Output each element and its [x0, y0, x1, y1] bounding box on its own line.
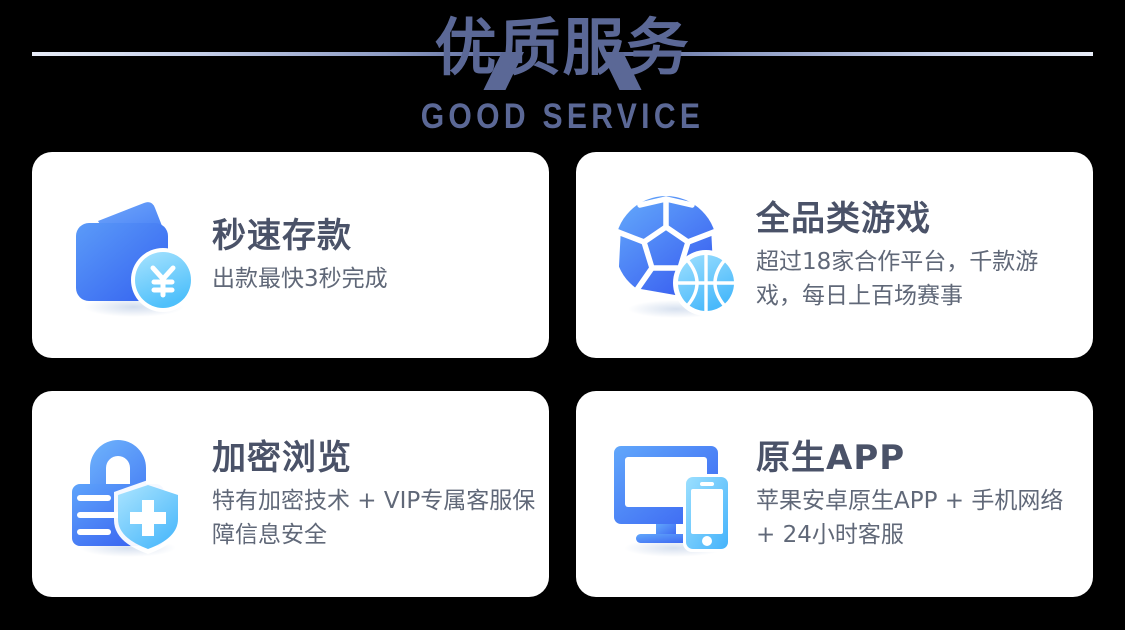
good-service-banner: 优质服务 GOOD SERVICE: [0, 0, 1125, 630]
feature-card-games[interactable]: 全品类游戏 超过18家合作平台，千款游戏，每日上百场赛事: [576, 152, 1093, 358]
banner-header: 优质服务 GOOD SERVICE: [0, 0, 1125, 152]
card-text-block: 全品类游戏 超过18家合作平台，千款游戏，每日上百场赛事: [744, 197, 1093, 313]
soccer-basketball-icon: [604, 185, 744, 325]
card-text-block: 加密浏览 特有加密技术 + VIP专属客服保障信息安全: [200, 436, 549, 552]
card-description: 出款最快3秒完成: [212, 262, 539, 296]
card-title: 秒速存款: [212, 214, 539, 258]
feature-card-native-app[interactable]: 原生APP 苹果安卓原生APP + 手机网络 + 24小时客服: [576, 391, 1093, 597]
card-text-block: 原生APP 苹果安卓原生APP + 手机网络 + 24小时客服: [744, 436, 1093, 552]
card-description: 特有加密技术 + VIP专属客服保障信息安全: [212, 484, 539, 552]
feature-card-encryption[interactable]: 加密浏览 特有加密技术 + VIP专属客服保障信息安全: [32, 391, 549, 597]
lock-shield-icon: [60, 424, 200, 564]
card-title: 加密浏览: [212, 436, 539, 480]
card-text-block: 秒速存款 出款最快3秒完成: [200, 214, 549, 296]
feature-card-grid: 秒速存款 出款最快3秒完成: [32, 152, 1093, 597]
card-title: 全品类游戏: [756, 197, 1083, 241]
card-title: 原生APP: [756, 436, 1083, 480]
card-description: 苹果安卓原生APP + 手机网络 + 24小时客服: [756, 484, 1083, 552]
feature-card-deposit[interactable]: 秒速存款 出款最快3秒完成: [32, 152, 549, 358]
wallet-yen-icon: [60, 185, 200, 325]
page-title: 优质服务: [0, 8, 1125, 88]
page-subtitle: GOOD SERVICE: [79, 96, 1047, 138]
card-description: 超过18家合作平台，千款游戏，每日上百场赛事: [756, 245, 1083, 313]
monitor-phone-icon: [604, 424, 744, 564]
